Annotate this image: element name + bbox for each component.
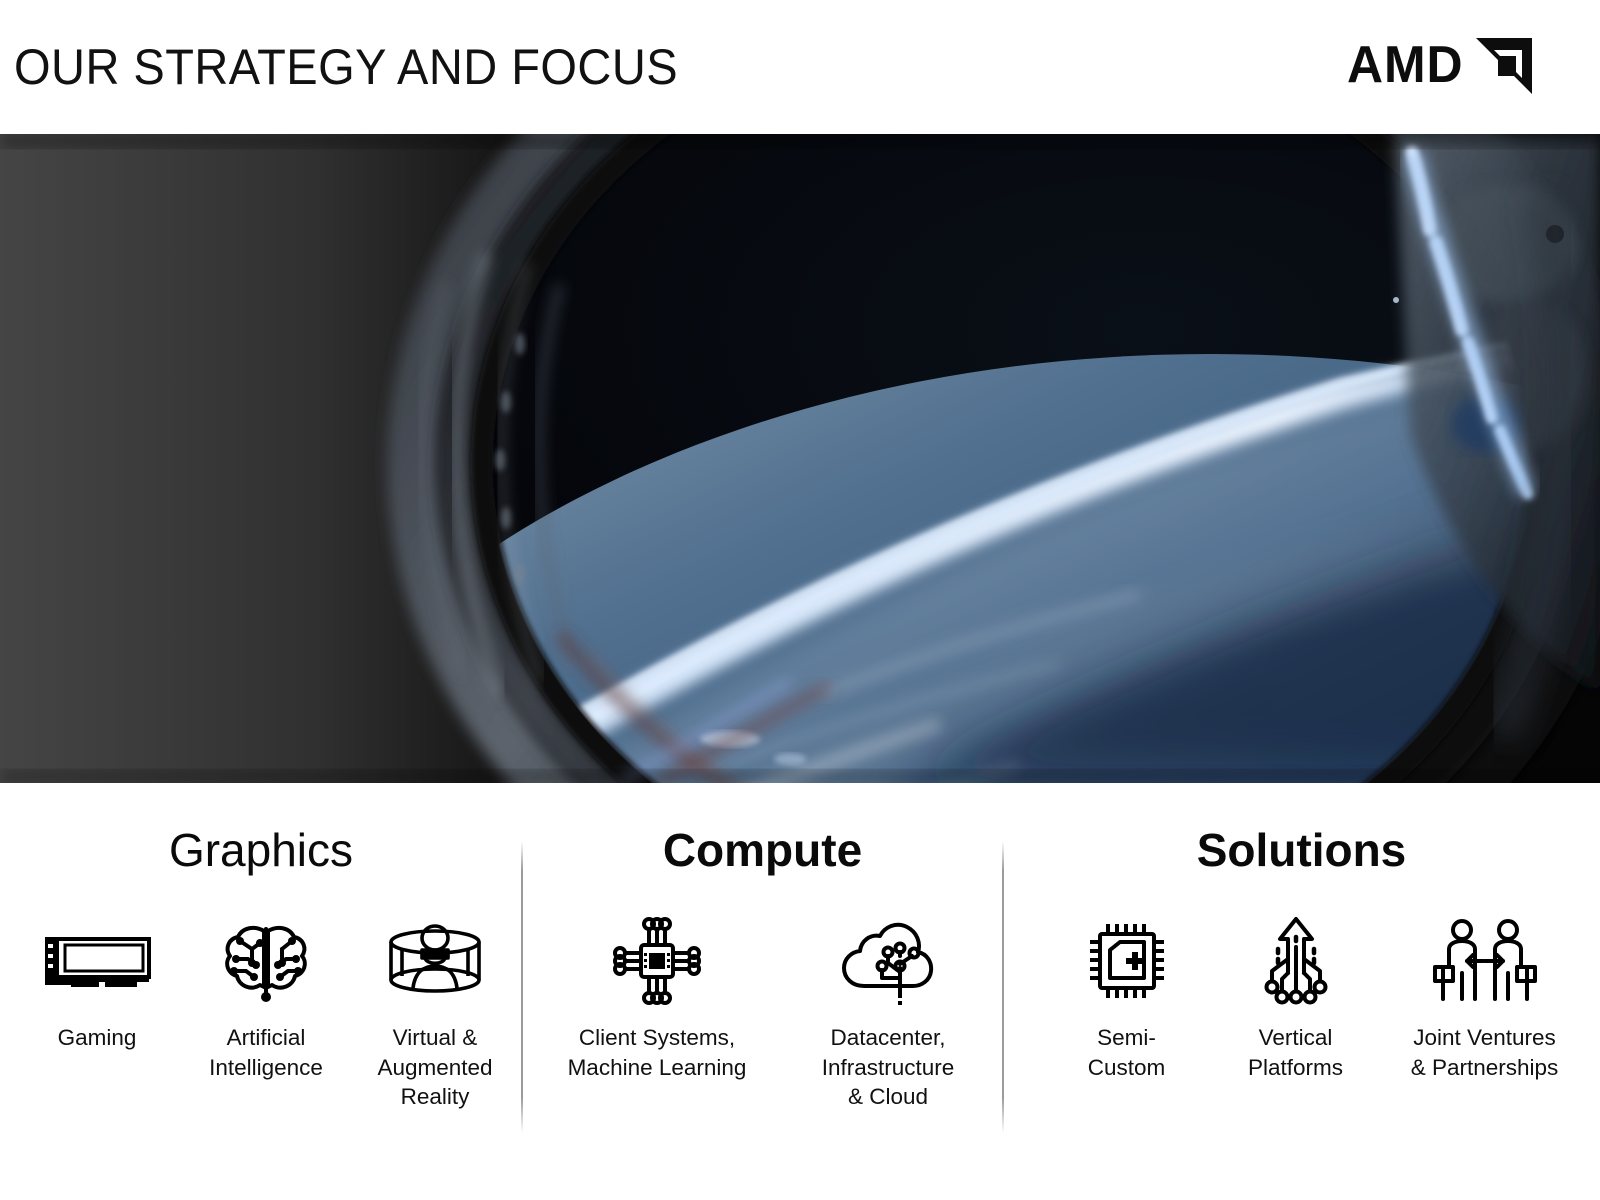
cloud-circuit-icon xyxy=(838,913,938,1009)
column-solutions: Solutions xyxy=(1003,783,1600,1200)
cpu-chip-icon xyxy=(611,913,703,1009)
item-label: Datacenter, Infrastructure & Cloud xyxy=(822,1023,955,1112)
vr-headset-person-icon xyxy=(380,913,490,1009)
column-heading-solutions: Solutions xyxy=(1003,827,1600,873)
item-label: Vertical Platforms xyxy=(1248,1023,1343,1082)
item-joint-ventures-partnerships[interactable]: Joint Ventures & Partnerships xyxy=(1387,913,1582,1082)
item-label: Gaming xyxy=(58,1023,137,1053)
item-client-systems-machine-learning[interactable]: Client Systems, Machine Learning xyxy=(560,913,755,1082)
item-label: Virtual & Augmented Reality xyxy=(377,1023,492,1112)
strategy-panel: Graphics xyxy=(0,783,1600,1200)
item-label: Semi- Custom xyxy=(1088,1023,1166,1082)
item-virtual-augmented-reality[interactable]: Virtual & Augmented Reality xyxy=(358,913,513,1112)
graphics-card-icon xyxy=(41,913,153,1009)
semi-custom-chip-icon xyxy=(1084,913,1170,1009)
item-datacenter-infrastructure-cloud[interactable]: Datacenter, Infrastructure & Cloud xyxy=(791,913,986,1112)
amd-arrow-mark-icon xyxy=(1474,36,1534,94)
column-graphics: Graphics xyxy=(0,783,522,1200)
column-heading-graphics: Graphics xyxy=(0,827,522,873)
item-artificial-intelligence[interactable]: Artificial Intelligence xyxy=(189,913,344,1082)
brain-circuit-icon xyxy=(220,913,312,1009)
spacecraft-window-earth-illustration xyxy=(0,134,1600,783)
item-label: Client Systems, Machine Learning xyxy=(568,1023,747,1082)
slide-header: OUR STRATEGY AND FOCUS AMD xyxy=(0,0,1600,134)
amd-logo: AMD xyxy=(1347,36,1534,94)
page-title: OUR STRATEGY AND FOCUS xyxy=(14,38,678,96)
column-heading-compute: Compute xyxy=(522,827,1003,873)
partnership-people-icon xyxy=(1429,913,1541,1009)
vertical-arrow-circuit-icon xyxy=(1252,913,1340,1009)
item-gaming[interactable]: Gaming xyxy=(20,913,175,1053)
item-semi-custom[interactable]: Semi- Custom xyxy=(1049,913,1204,1082)
amd-wordmark: AMD xyxy=(1347,39,1464,91)
column-compute: Compute xyxy=(522,783,1003,1200)
hero-image xyxy=(0,134,1600,783)
item-vertical-platforms[interactable]: Vertical Platforms xyxy=(1218,913,1373,1082)
item-label: Joint Ventures & Partnerships xyxy=(1411,1023,1559,1082)
item-label: Artificial Intelligence xyxy=(209,1023,323,1082)
